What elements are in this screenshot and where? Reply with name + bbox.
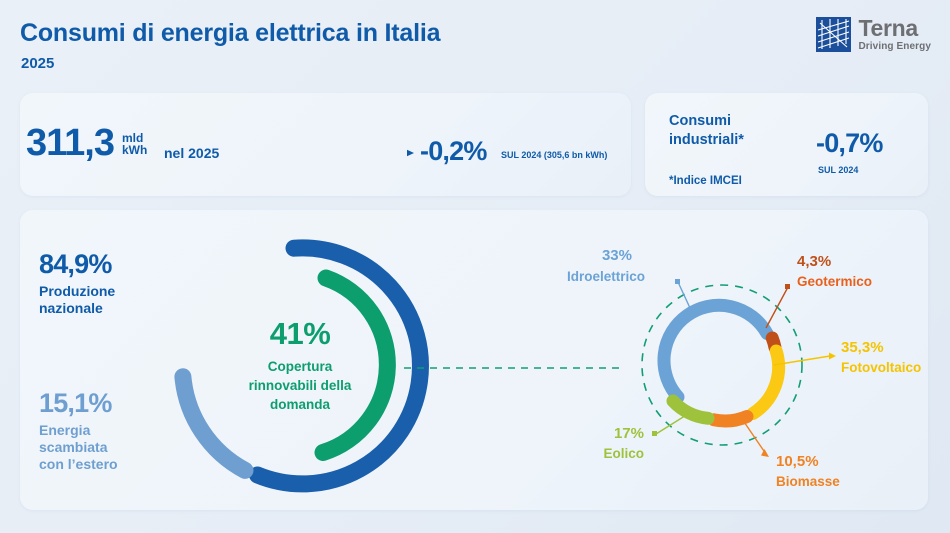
arc-idroelettrico: [664, 305, 767, 397]
consumption-delta-note: SUL 2024 (305,6 bn kWh): [501, 150, 607, 160]
stat-exchange-value: 15,1%: [39, 388, 118, 418]
label-eolico-pct: 17%: [614, 425, 644, 442]
label-biomasse-pct: 10,5%: [776, 453, 819, 470]
renewables-mix-donut-chart: 33% Idroelettrico 4,3% Geotermico 35,3% …: [500, 226, 930, 511]
arc-renewables-coverage: [323, 278, 387, 453]
trend-arrow-icon: [265, 145, 415, 163]
label-eolico-name: Eolico: [603, 446, 644, 461]
label-biomasse-name: Biomasse: [776, 474, 840, 489]
industrial-label: Consumi industriali*: [669, 112, 744, 150]
industrial-delta: -0,7%: [816, 128, 883, 159]
donut-center-percentage: 41%: [270, 316, 331, 351]
consumption-unit-line2: kWh: [122, 144, 147, 156]
consumption-period: nel 2025: [164, 145, 219, 161]
terna-logo-text: Terna Driving Energy: [858, 17, 931, 52]
leader-line-eolico: [652, 414, 688, 436]
stat-national-caption: Produzione nazionale: [39, 283, 115, 317]
industrial-delta-note: SUL 2024: [818, 165, 858, 175]
industrial-label-line2: industriali*: [669, 131, 744, 150]
industrial-footnote: *Indice IMCEI: [669, 175, 742, 187]
consumption-unit: mld kWh: [122, 132, 147, 156]
page-subtitle-year: 2025: [21, 55, 54, 72]
label-idroelettrico-name: Idroelettrico: [567, 269, 645, 284]
donut-center-label-line3: domanda: [270, 397, 330, 412]
label-geotermico-pct: 4,3%: [797, 253, 831, 270]
label-fotovoltaico-name: Fotovoltaico: [841, 360, 921, 375]
stat-national-production: 84,9% Produzione nazionale: [39, 249, 115, 317]
arc-eolico: [673, 401, 708, 418]
donut-center-label-line2: rinnovabili della: [249, 378, 352, 393]
donut-center-label-line1: Copertura: [268, 359, 333, 374]
consumption-delta: -0,2%: [420, 136, 487, 167]
leader-line-biomasse: [740, 416, 769, 457]
stat-national-caption-line2: nazionale: [39, 300, 115, 317]
stat-national-value: 84,9%: [39, 249, 115, 279]
label-idroelettrico-pct: 33%: [602, 247, 632, 264]
stat-exchange-caption-line1: Energia: [39, 422, 118, 439]
page-title: Consumi di energia elettrica in Italia: [20, 19, 440, 48]
consumption-value: 311,3: [26, 122, 114, 165]
infographic-page: Consumi di energia elettrica in Italia 2…: [0, 0, 950, 533]
stat-foreign-exchange: 15,1% Energia scambiata con l’estero: [39, 388, 118, 473]
leader-line-geotermico: [766, 284, 790, 328]
leader-line-idroelettrico: [675, 279, 690, 308]
arc-fotovoltaico: [753, 351, 779, 414]
terna-logo: Terna Driving Energy: [816, 17, 931, 52]
logo-tagline: Driving Energy: [858, 42, 931, 52]
stat-national-caption-line1: Produzione: [39, 283, 115, 300]
stat-exchange-caption-line2: scambiata: [39, 439, 118, 456]
industrial-label-line1: Consumi: [669, 112, 744, 131]
arc-foreign-exchange: [183, 377, 245, 471]
label-fotovoltaico-pct: 35,3%: [841, 339, 884, 356]
label-geotermico-name: Geotermico: [797, 274, 872, 289]
stat-exchange-caption-line3: con l’estero: [39, 456, 118, 473]
stat-exchange-caption: Energia scambiata con l’estero: [39, 422, 118, 473]
terna-logo-mark-icon: [816, 17, 851, 52]
demand-coverage-donut-chart: 41% Copertura rinnovabili della domanda: [160, 226, 440, 506]
logo-brand-name: Terna: [858, 17, 931, 40]
